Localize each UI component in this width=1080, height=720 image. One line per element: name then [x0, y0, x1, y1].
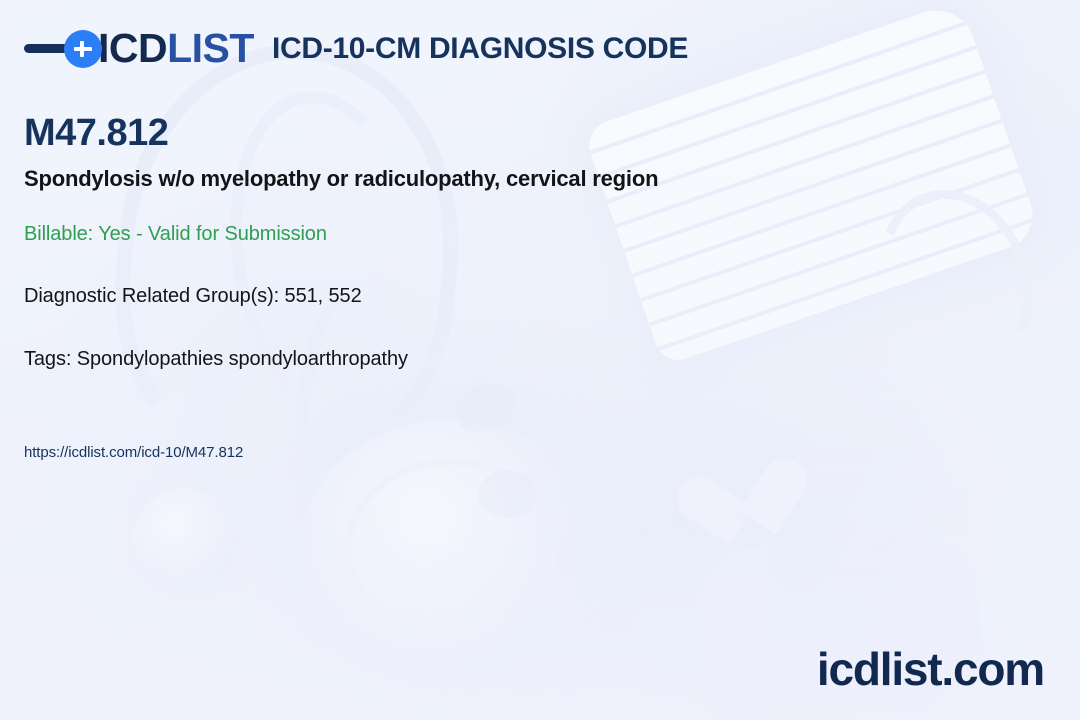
tags-line: Tags: Spondylopathies spondyloarthropath… [24, 348, 408, 371]
brand-wordmark: ICDLIST [98, 28, 254, 69]
stethoscope-tube-stem-image [287, 295, 393, 475]
stethoscope-chestpiece-ring-image [345, 458, 557, 642]
stethoscope-eartip-image [449, 375, 523, 439]
diagnostic-related-groups: Diagnostic Related Group(s): 551, 552 [24, 285, 362, 308]
page-title: ICD-10-CM DIAGNOSIS CODE [272, 32, 688, 66]
stethoscope-tube-image [100, 30, 475, 478]
billable-status: Billable: Yes - Valid for Submission [24, 223, 327, 246]
stethoscope-earpiece-image [132, 488, 238, 592]
stethoscope-eartip-secondary-image [478, 470, 536, 518]
plus-in-circle-icon [64, 30, 102, 68]
icdlist-logo[interactable]: ICDLIST [24, 28, 254, 69]
brand-word-list: LIST [167, 25, 254, 71]
icd-code-card: ICDLIST ICD-10-CM DIAGNOSIS CODE M47.812… [0, 0, 1080, 720]
diagnosis-description: Spondylosis w/o myelopathy or radiculopa… [24, 166, 658, 192]
site-watermark: icdlist.com [817, 642, 1044, 696]
plus-vertical-bar [80, 41, 84, 57]
hand-finger-secondary-image [813, 441, 940, 601]
header: ICDLIST ICD-10-CM DIAGNOSIS CODE [24, 28, 688, 69]
brand-word-icd: ICD [98, 25, 167, 71]
diagnosis-code: M47.812 [24, 112, 168, 155]
stethoscope-chestpiece-image [300, 420, 600, 680]
hand-finger-image [753, 423, 890, 605]
paper-heart-image [679, 457, 819, 597]
mask-ear-loop-image [854, 169, 1055, 396]
source-url-link[interactable]: https://icdlist.com/icd-10/M47.812 [24, 444, 243, 461]
stethoscope-tube-secondary-image [210, 78, 444, 431]
